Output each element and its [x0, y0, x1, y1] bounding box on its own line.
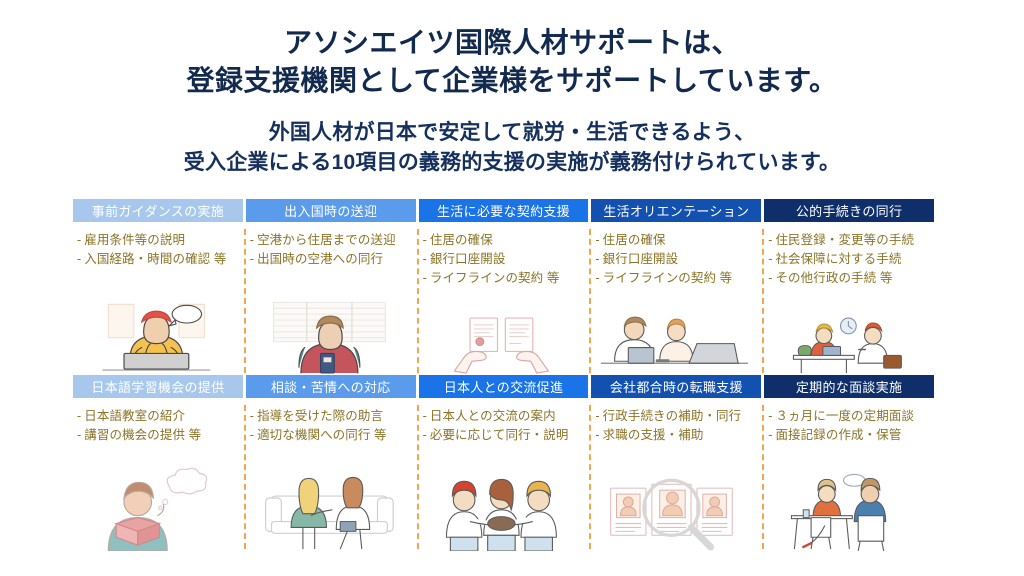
support-card-life-orientation[interactable]: 生活オリエンテーション -住居の確保 -銀行口座開設 -ライフラインの契約 等: [591, 199, 764, 375]
list-item-text: 日本語教室の紹介: [84, 409, 185, 423]
list-item: -ライフラインの契約 等: [595, 269, 758, 288]
list-item-text: 雇用条件等の説明: [84, 233, 185, 247]
list-item-text: 出国時の空港への同行: [257, 252, 383, 266]
page-title-line-2: 登録支援機関として企業様をサポートしています。: [0, 62, 1024, 100]
support-card-bullets: -住居の確保 -銀行口座開設 -ライフラインの契約 等: [591, 222, 764, 288]
list-item: -日本人との交流の案内: [423, 407, 586, 426]
support-card-consultation[interactable]: 相談・苦情への対応 -指導を受けた際の助言 -適切な機関への同行 等: [246, 375, 419, 551]
list-item-text: ライフラインの契約 等: [603, 271, 733, 285]
list-item: -必要に応じて同行・説明: [423, 426, 586, 445]
support-card-bullets: -住民登録・変更等の手続 -社会保障に対する手続 -その他行政の手続 等: [764, 222, 937, 288]
support-card-header: 生活オリエンテーション: [591, 199, 761, 222]
list-item: -住居の確保: [595, 231, 758, 250]
page-subtitle-line-2: 受入企業による10項目の義務的支援の実施が義務付けられています。: [0, 148, 1024, 178]
support-card-exchange-promotion[interactable]: 日本人との交流促進 -日本人との交流の案内 -必要に応じて同行・説明: [419, 375, 592, 551]
list-item-text: 銀行口座開設: [603, 252, 679, 266]
list-item: -入国経路・時間の確認 等: [77, 250, 240, 269]
support-card-bullets: -日本語教室の紹介 -講習の機会の提供 等: [73, 398, 246, 445]
support-card-pre-guidance[interactable]: 事前ガイダンスの実施 -雇用条件等の説明 -入国経路・時間の確認 等: [73, 199, 246, 375]
list-item: -面接記録の作成・保管: [768, 426, 931, 445]
list-item: -社会保障に対する手続: [768, 250, 931, 269]
support-card-header: 日本語学習機会の提供: [73, 375, 243, 398]
support-card-header: 日本人との交流促進: [419, 375, 589, 398]
counseling-on-sofa-icon: [246, 445, 413, 551]
list-item: -銀行口座開設: [595, 250, 758, 269]
list-item-text: ライフラインの契約 等: [430, 271, 560, 285]
support-card-japanese-learning[interactable]: 日本語学習機会の提供 -日本語教室の紹介 -講習の機会の提供 等: [73, 375, 246, 551]
page-subtitle: 外国人材が日本で安定して就労・生活できるよう、 受入企業による10項目の義務的支…: [0, 118, 1024, 178]
list-item-text: ３ヵ月に一度の定期面談: [775, 409, 914, 423]
hands-signing-documents-icon: [419, 288, 586, 375]
list-item-text: 住居の確保: [430, 233, 493, 247]
list-item-text: 適切な機関への同行 等: [257, 428, 387, 442]
list-item: -適切な機関への同行 等: [250, 426, 413, 445]
list-item: -行政手続きの補助・同行: [595, 407, 758, 426]
list-item-text: 空港から住居までの送迎: [257, 233, 396, 247]
list-item-text: 社会保障に対する手続: [775, 252, 901, 266]
list-item-text: 面接記録の作成・保管: [775, 428, 901, 442]
list-item: -雇用条件等の説明: [77, 231, 240, 250]
support-card-bullets: -行政手続きの補助・同行 -求職の支援・補助: [591, 398, 764, 445]
support-card-bullets: -空港から住居までの送迎 -出国時の空港への同行: [246, 222, 419, 269]
support-card-airport-transfer[interactable]: 出入国時の送迎 -空港から住居までの送迎 -出国時の空港への同行: [246, 199, 419, 375]
support-card-header: 生活に必要な契約支援: [419, 199, 589, 222]
support-row-1: 事前ガイダンスの実施 -雇用条件等の説明 -入国経路・時間の確認 等: [73, 199, 937, 375]
person-reading-book-thinking-icon: [73, 445, 240, 551]
list-item: -３ヵ月に一度の定期面談: [768, 407, 931, 426]
support-card-bullets: -日本人との交流の案内 -必要に応じて同行・説明: [419, 398, 592, 445]
list-item-text: 住民登録・変更等の手続: [775, 233, 914, 247]
list-item: -ライフラインの契約 等: [423, 269, 586, 288]
support-card-regular-interview[interactable]: 定期的な面談実施 -３ヵ月に一度の定期面談 -面接記録の作成・保管: [764, 375, 937, 551]
support-card-header: 出入国時の送迎: [246, 199, 416, 222]
list-item-text: 日本人との交流の案内: [430, 409, 556, 423]
support-items-grid: 事前ガイダンスの実施 -雇用条件等の説明 -入国経路・時間の確認 等: [73, 199, 937, 551]
support-card-bullets: -指導を受けた際の助言 -適切な機関への同行 等: [246, 398, 419, 445]
support-card-header: 公的手続きの同行: [764, 199, 934, 222]
list-item: -求職の支援・補助: [595, 426, 758, 445]
three-people-joining-hands-icon: [419, 445, 586, 551]
support-card-job-change-support[interactable]: 会社都合時の転職支援 -行政手続きの補助・同行 -求職の支援・補助: [591, 375, 764, 551]
support-card-contract-support[interactable]: 生活に必要な契約支援 -住居の確保 -銀行口座開設 -ライフラインの契約 等: [419, 199, 592, 375]
list-item: -指導を受けた際の助言: [250, 407, 413, 426]
support-card-header: 定期的な面談実施: [764, 375, 934, 398]
support-card-bullets: -雇用条件等の説明 -入国経路・時間の確認 等: [73, 222, 246, 269]
two-people-at-laptop-icon: [591, 288, 758, 375]
list-item-text: 求職の支援・補助: [603, 428, 704, 442]
list-item: -出国時の空港への同行: [250, 250, 413, 269]
page-subtitle-line-1: 外国人材が日本で安定して就労・生活できるよう、: [0, 118, 1024, 148]
list-item-text: 指導を受けた際の助言: [257, 409, 383, 423]
list-item-text: 住居の確保: [603, 233, 666, 247]
list-item: -空港から住居までの送迎: [250, 231, 413, 250]
heading-block: アソシエイツ国際人材サポートは、 登録支援機関として企業様をサポートしています。…: [0, 24, 1024, 178]
list-item: -その他行政の手続 等: [768, 269, 931, 288]
support-card-header: 会社都合時の転職支援: [591, 375, 761, 398]
person-at-laptop-speaking-icon: [73, 269, 240, 375]
support-card-public-procedures[interactable]: 公的手続きの同行 -住民登録・変更等の手続 -社会保障に対する手続 -その他行政…: [764, 199, 937, 375]
support-row-2: 日本語学習機会の提供 -日本語教室の紹介 -講習の機会の提供 等: [73, 375, 937, 551]
slide-root: アソシエイツ国際人材サポートは、 登録支援機関として企業様をサポートしています。…: [0, 0, 1024, 576]
list-item: -銀行口座開設: [423, 250, 586, 269]
list-item-text: 銀行口座開設: [430, 252, 506, 266]
reception-counter-clock-icon: [764, 288, 931, 375]
list-item-text: 必要に応じて同行・説明: [430, 428, 569, 442]
list-item-text: 行政手続きの補助・同行: [603, 409, 742, 423]
support-card-bullets: -３ヵ月に一度の定期面談 -面接記録の作成・保管: [764, 398, 937, 445]
list-item: -住居の確保: [423, 231, 586, 250]
interview-at-table-icon: [764, 445, 931, 551]
resumes-magnifier-icon: [591, 445, 758, 551]
list-item-text: 入国経路・時間の確認 等: [84, 252, 226, 266]
page-title-line-1: アソシエイツ国際人材サポートは、: [0, 24, 1024, 62]
traveler-with-backpack-passport-icon: [246, 269, 413, 375]
list-item: -講習の機会の提供 等: [77, 426, 240, 445]
support-card-header: 相談・苦情への対応: [246, 375, 416, 398]
list-item: -日本語教室の紹介: [77, 407, 240, 426]
support-card-header: 事前ガイダンスの実施: [73, 199, 243, 222]
support-card-bullets: -住居の確保 -銀行口座開設 -ライフラインの契約 等: [419, 222, 592, 288]
list-item-text: 講習の機会の提供 等: [84, 428, 201, 442]
list-item-text: その他行政の手続 等: [775, 271, 892, 285]
list-item: -住民登録・変更等の手続: [768, 231, 931, 250]
